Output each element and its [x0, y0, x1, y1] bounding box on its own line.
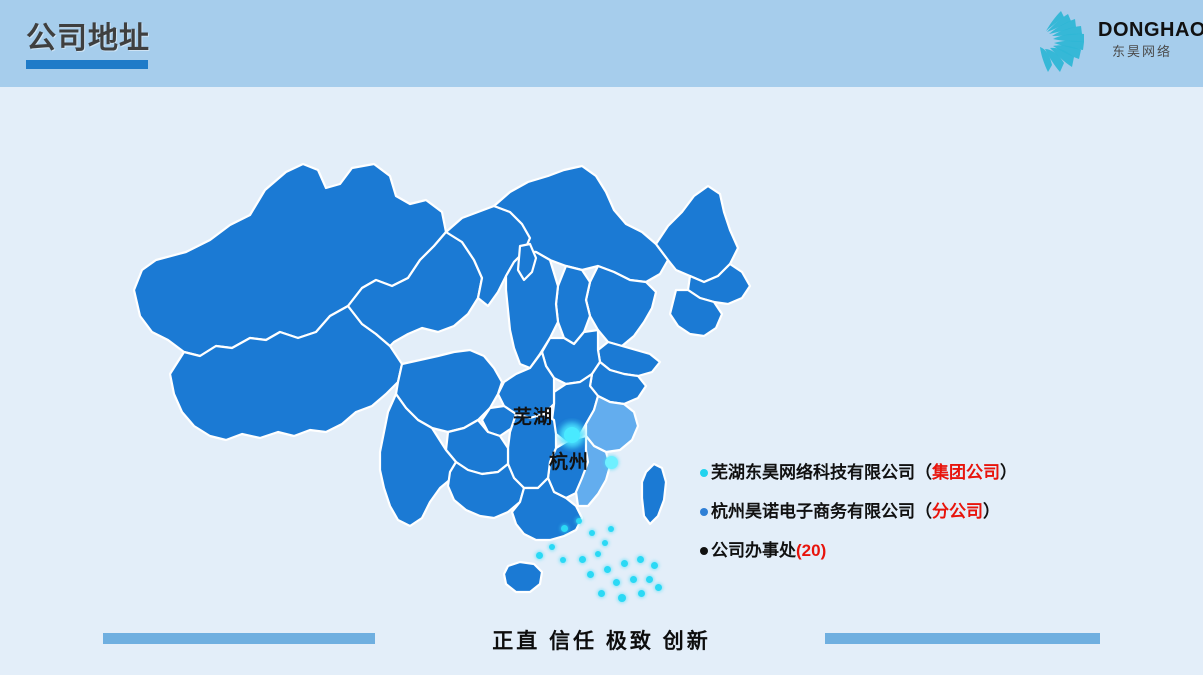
office-dot: [618, 594, 626, 602]
office-dot: [587, 571, 594, 578]
legend-text: 芜湖东昊网络科技有限公司（: [711, 462, 932, 484]
legend-bullet-black-icon: [700, 547, 708, 555]
branch-marker-hangzhou[interactable]: [605, 456, 618, 469]
china-map-svg: [90, 120, 790, 620]
legend-bullet-blue-icon: [700, 508, 708, 516]
legend-item-branch-company[interactable]: 杭州昊诺电子商务有限公司（ 分公司 ）: [700, 501, 1130, 523]
legend-item-offices[interactable]: 公司办事处 (20): [700, 540, 1130, 562]
office-dot: [549, 544, 555, 550]
footer-slogan: 正直 信任 极致 创新: [0, 625, 1203, 655]
office-dot: [638, 590, 645, 597]
brand-logo: DONGHAO 东昊网络: [1016, 5, 1191, 77]
legend: 芜湖东昊网络科技有限公司（ 集团公司 ） 杭州昊诺电子商务有限公司（ 分公司 ）…: [700, 462, 1130, 579]
page-title: 公司地址: [26, 20, 150, 58]
legend-tag: 分公司: [932, 501, 983, 523]
office-dot: [595, 551, 601, 557]
office-dot: [630, 576, 637, 583]
china-map[interactable]: [90, 120, 790, 620]
legend-tag-tail: ）: [1000, 462, 1017, 484]
city-label-wuhu: 芜湖: [513, 402, 553, 429]
office-dot: [561, 525, 568, 532]
hq-marker-core: [564, 427, 580, 443]
legend-tag-tail: ）: [983, 501, 1000, 523]
title-underline: [26, 60, 148, 69]
office-dot: [598, 590, 605, 597]
office-dot: [560, 557, 566, 563]
legend-bullet-cyan-icon: [700, 469, 708, 477]
province-hainan: [504, 562, 542, 592]
office-dot: [637, 556, 644, 563]
office-dot: [576, 518, 582, 524]
logo-name-cn: 东昊网络: [1098, 43, 1190, 61]
office-dot: [604, 566, 611, 573]
legend-text: 公司办事处: [711, 540, 796, 562]
donghao-feather-logo-icon: [1028, 8, 1100, 74]
legend-tag: (20): [796, 540, 826, 562]
legend-text: 杭州昊诺电子商务有限公司（: [711, 501, 932, 523]
province-taiwan: [642, 464, 666, 524]
logo-name-en: DONGHAO: [1098, 19, 1190, 41]
office-dot: [579, 556, 586, 563]
page-header: 公司地址 DONGHAO 东昊网络: [0, 0, 1203, 87]
office-dot: [646, 576, 653, 583]
office-dot: [621, 560, 628, 567]
office-dot: [589, 530, 595, 536]
office-dot: [613, 579, 620, 586]
office-dot: [651, 562, 658, 569]
legend-item-group-company[interactable]: 芜湖东昊网络科技有限公司（ 集团公司 ）: [700, 462, 1130, 484]
office-dot: [655, 584, 662, 591]
office-dot: [608, 526, 614, 532]
city-label-hangzhou: 杭州: [549, 447, 589, 474]
office-dot: [536, 552, 543, 559]
office-dot: [602, 540, 608, 546]
legend-tag: 集团公司: [932, 462, 1000, 484]
